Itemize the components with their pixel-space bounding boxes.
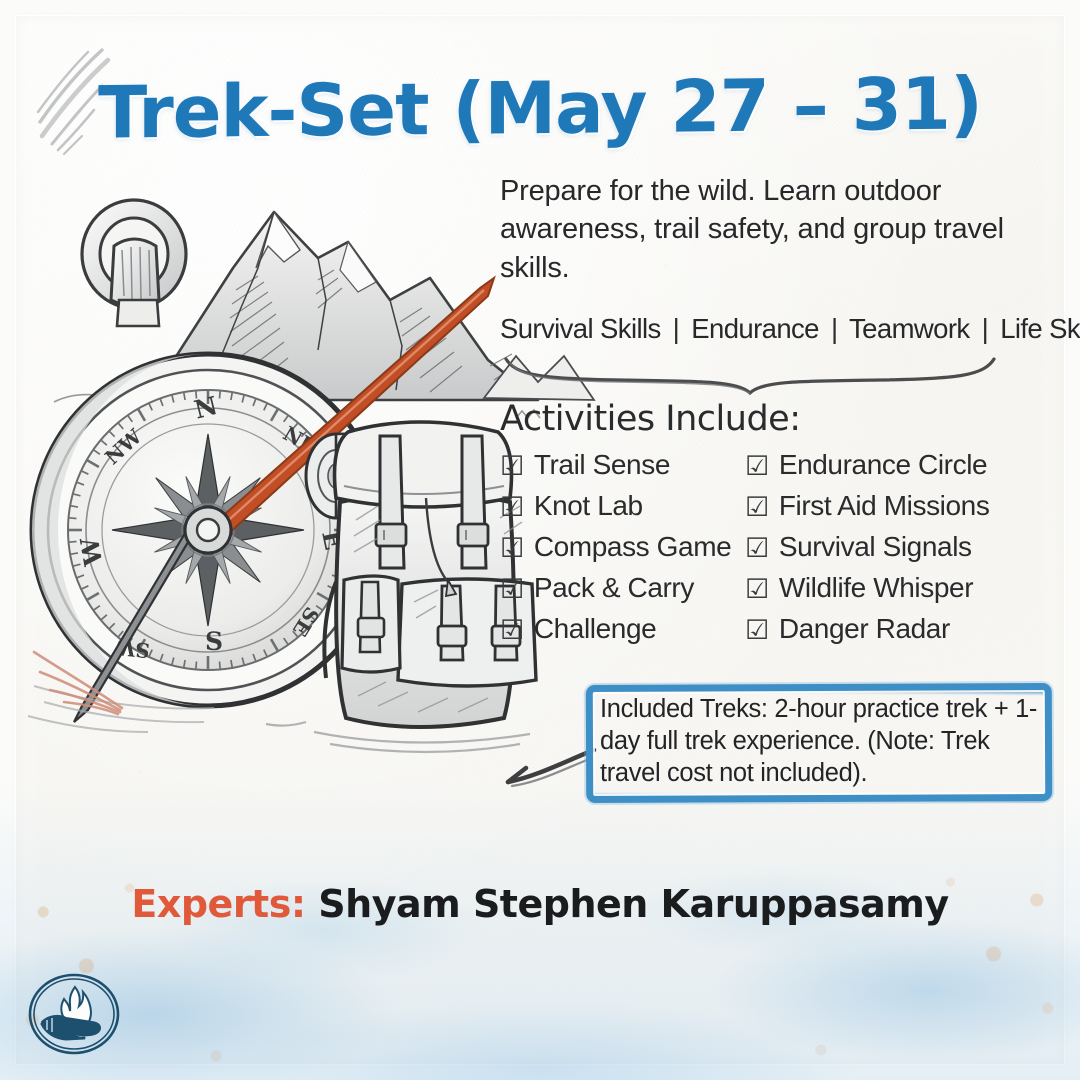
tag-separator: | <box>668 313 685 344</box>
activity-item-danger-radar: ☑ Danger Radar <box>745 613 1062 645</box>
curly-brace-divider-icon <box>500 353 1062 397</box>
compass-label-w: W <box>75 534 109 569</box>
activity-label: Survival Signals <box>779 531 972 563</box>
experts-footer: Experts: Shyam Stephen Karuppasamy <box>0 878 1080 932</box>
activity-label: Pack & Carry <box>534 572 694 604</box>
tag-teamwork: Teamwork <box>849 313 970 344</box>
activity-label: First Aid Missions <box>779 490 990 522</box>
experts-label: Experts: <box>131 882 305 926</box>
experts-names: Shyam Stephen Karuppasamy <box>318 882 948 926</box>
activity-item-compass-game: ☑ Compass Game <box>500 531 735 563</box>
activity-item-first-aid-missions: ☑ First Aid Missions <box>745 490 1062 522</box>
checked-box-icon: ☑ <box>745 453 769 480</box>
checked-box-icon: ☑ <box>745 494 769 521</box>
feather-stroke-icon <box>22 636 142 716</box>
activity-label: Danger Radar <box>779 613 950 645</box>
activity-label: Trail Sense <box>534 449 670 481</box>
checked-box-icon: ☑ <box>500 453 524 480</box>
activity-item-knot-lab: ☑ Knot Lab <box>500 490 735 522</box>
included-treks-note: Included Treks: 2-hour practice trek + 1… <box>586 684 1052 802</box>
activity-label: Challenge <box>534 613 657 645</box>
note-text: Included Treks: 2-hour practice trek + 1… <box>600 693 1040 789</box>
activity-item-pack-and-carry: ☑ Pack & Carry <box>500 572 735 604</box>
poster-canvas: N NE E SE S SW W NW <box>0 0 1080 1080</box>
content-column: Prepare for the wild. Learn outdoor awar… <box>500 172 1062 645</box>
activity-label: Compass Game <box>534 531 732 563</box>
checked-box-icon: ☑ <box>500 617 524 644</box>
tag-separator: | <box>826 313 843 344</box>
tag-endurance: Endurance <box>691 313 819 344</box>
checked-box-icon: ☑ <box>745 535 769 562</box>
activity-item-wildlife-whisper: ☑ Wildlife Whisper <box>745 572 1062 604</box>
activity-item-endurance-circle: ☑ Endurance Circle <box>745 449 1062 481</box>
tag-life-skills: Life Skills <box>1000 313 1080 344</box>
activities-grid: ☑ Trail Sense ☑ Endurance Circle ☑ Knot … <box>500 449 1062 645</box>
activity-item-challenge: ☑ Challenge <box>500 613 735 645</box>
checked-box-icon: ☑ <box>500 535 524 562</box>
checked-box-icon: ☑ <box>745 617 769 644</box>
activity-label: Knot Lab <box>534 490 643 522</box>
activity-item-survival-signals: ☑ Survival Signals <box>745 531 1062 563</box>
activities-heading: Activities Include: <box>500 399 1062 439</box>
tag-separator: | <box>977 313 994 344</box>
compass-label-s: S <box>205 627 223 656</box>
poster-title: Trek-Set (May 27 – 31) <box>0 60 1080 155</box>
activity-item-trail-sense: ☑ Trail Sense <box>500 449 735 481</box>
activity-label: Endurance Circle <box>779 449 987 481</box>
checked-box-icon: ☑ <box>500 576 524 603</box>
poster-description: Prepare for the wild. Learn outdoor awar… <box>500 172 1062 287</box>
activity-label: Wildlife Whisper <box>779 572 973 604</box>
skills-tag-line: Survival Skills | Endurance | Teamwork |… <box>500 313 1062 345</box>
hand-holding-flame-icon <box>26 966 122 1062</box>
checked-box-icon: ☑ <box>500 494 524 521</box>
tag-survival-skills: Survival Skills <box>500 313 661 344</box>
checked-box-icon: ☑ <box>745 576 769 603</box>
